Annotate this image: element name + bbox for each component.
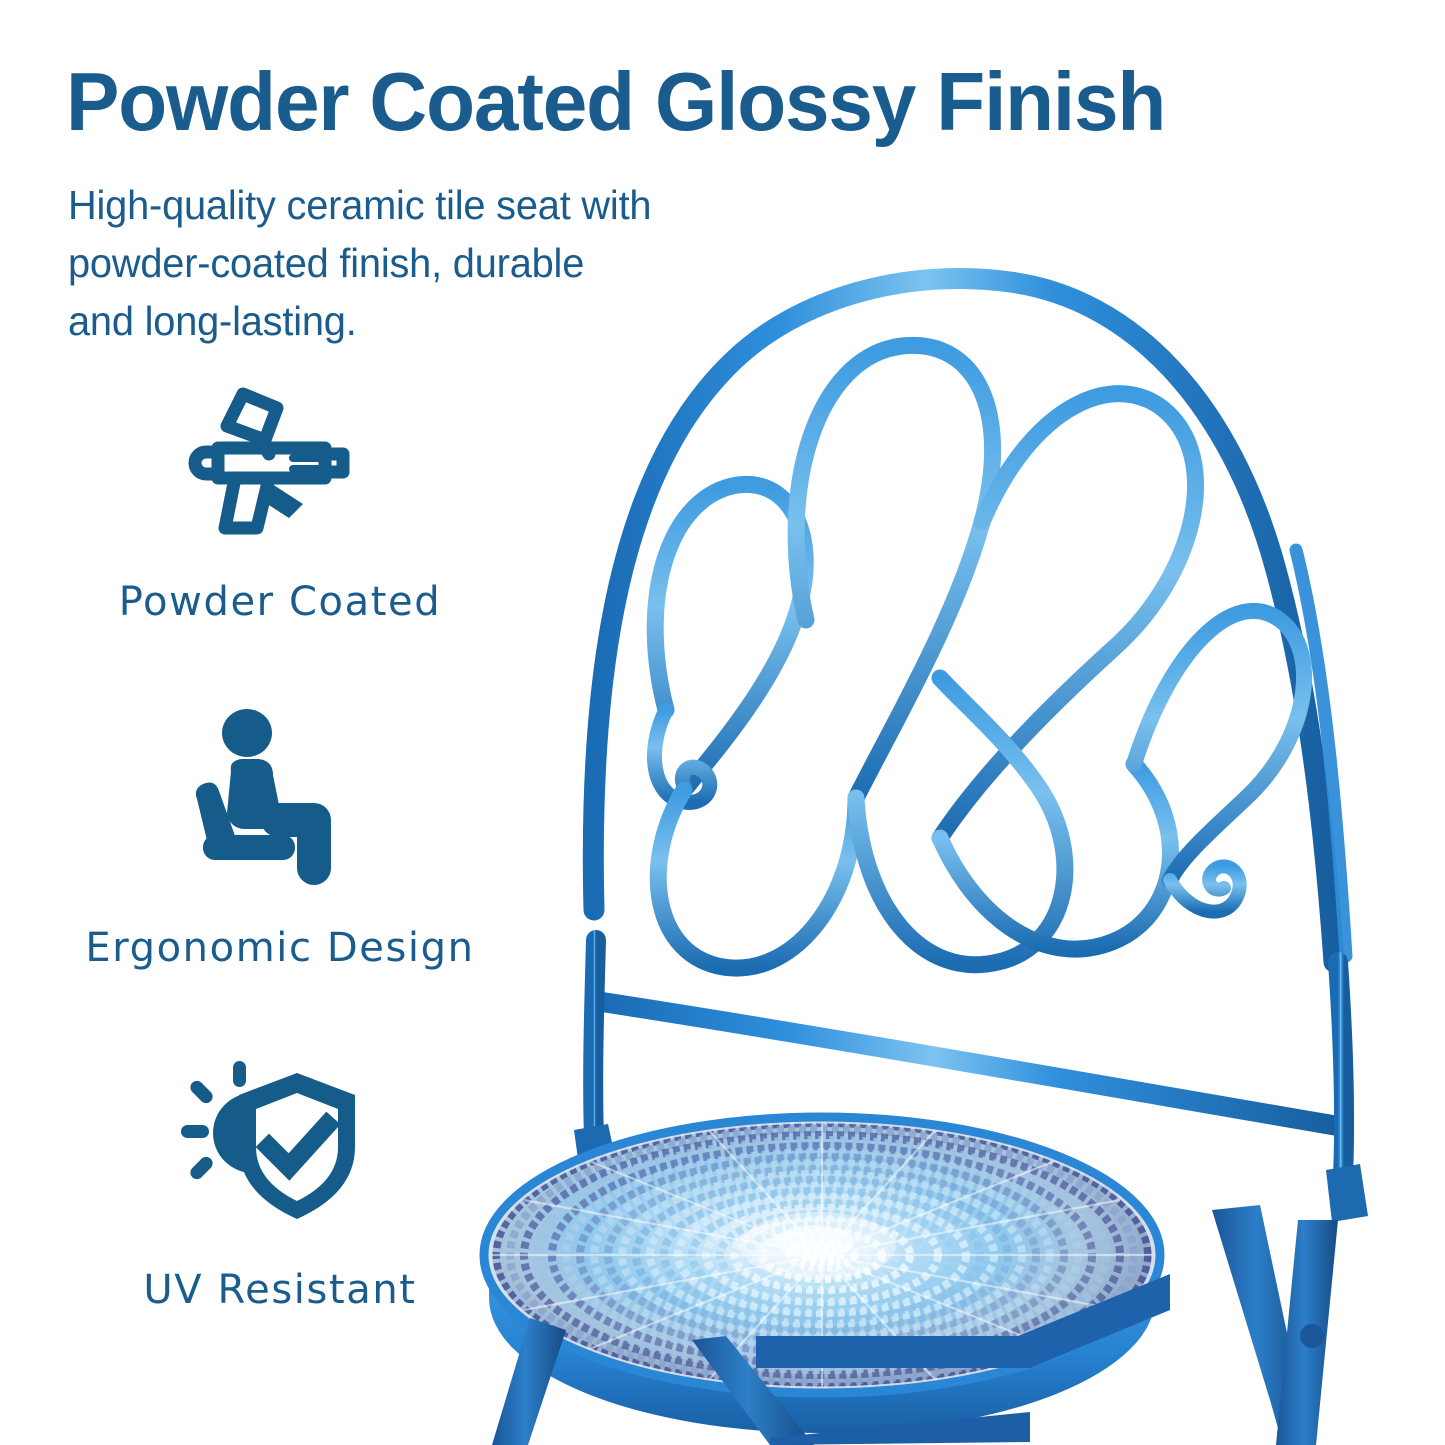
seated-person-icon bbox=[185, 707, 375, 885]
sun-shield-check-icon bbox=[181, 1059, 379, 1229]
spray-paint-gun-icon bbox=[173, 378, 388, 543]
mosaic-tile-seat bbox=[484, 1117, 1160, 1433]
mosaic-tile-folding-bistro-chair bbox=[470, 150, 1445, 1445]
right-hinge-bracket bbox=[1326, 1164, 1368, 1222]
chair-front-left-leg bbox=[492, 1318, 566, 1445]
chair-backrest bbox=[593, 278, 1346, 1196]
page-title: Powder Coated Glossy Finish bbox=[66, 62, 1156, 142]
product-image bbox=[470, 150, 1445, 1445]
leg-hinge-pin bbox=[1300, 1324, 1324, 1348]
backrest-cross-rail bbox=[602, 1002, 1338, 1126]
